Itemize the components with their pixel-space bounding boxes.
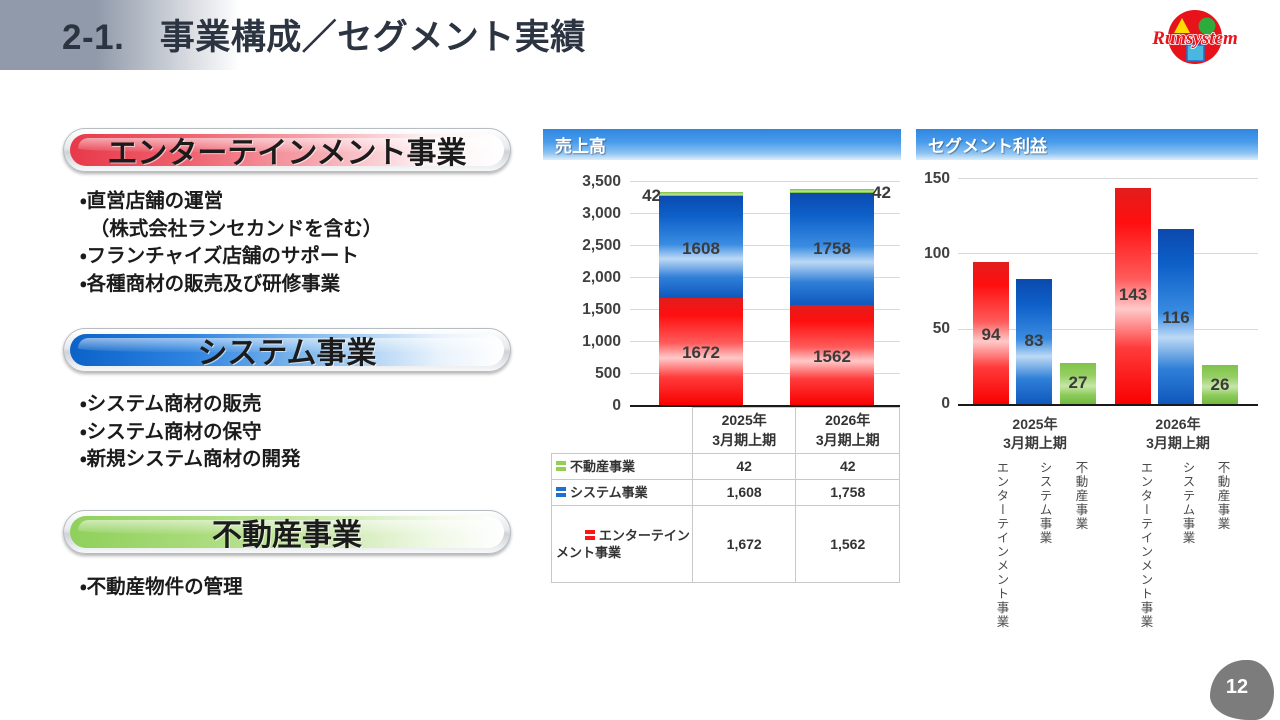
- pill-fill-realestate: 不動産事業: [70, 516, 504, 548]
- sales-ytick-2500: 2,500: [548, 237, 621, 255]
- segment-pill-realestate: 不動産事業: [63, 510, 511, 554]
- slide-root: 2-1. 事業構成／セグメント実績 Runsystem エンターテインメント事業…: [0, 0, 1280, 720]
- profit-x-axis-line: [958, 404, 1258, 406]
- pill-fill-system: システム事業: [70, 334, 504, 366]
- profit-value-system-2025: 83: [1016, 331, 1052, 351]
- sales-value-system-2025: 1608: [659, 239, 743, 259]
- profit-ytick-100: 100: [912, 245, 950, 263]
- table-col-header-2026: 2026年 3月期上期: [796, 408, 900, 454]
- profit-vlabel-realestate-2026: 不動産事業: [1216, 461, 1229, 531]
- sales-ytick-3500: 3,500: [548, 173, 621, 191]
- segment-bullets-system: ・システム商材の販売 ・システム商材の保守 ・新規システム商材の開発: [80, 391, 301, 474]
- legend-swatch-green-icon: [556, 461, 566, 472]
- sales-panel-header: 売上高: [543, 129, 901, 160]
- segment-pill-entertainment: エンターテインメント事業: [63, 128, 511, 172]
- table-row: 不動産事業 42 42: [552, 454, 900, 480]
- legend-swatch-blue-icon: [556, 487, 566, 498]
- sales-data-table: 2025年 3月期上期 2026年 3月期上期 不動産事業 42 42 システム…: [551, 407, 900, 583]
- sales-value-realestate-2026: 42: [872, 183, 906, 203]
- table-col-header-2025: 2025年 3月期上期: [692, 408, 796, 454]
- legend-swatch-red-icon: [585, 530, 595, 541]
- table-corner-cell: [552, 408, 693, 454]
- profit-panel-header: セグメント利益: [916, 129, 1258, 160]
- table-row-label-realestate: 不動産事業: [552, 454, 693, 480]
- profit-value-entertainment-2025: 94: [973, 325, 1009, 345]
- table-cell-entertainment-2025: 1,672: [692, 505, 796, 582]
- segment-pill-system: システム事業: [63, 328, 511, 372]
- profit-ytick-0: 0: [912, 395, 950, 413]
- sales-ytick-2000: 2,000: [548, 269, 621, 287]
- profit-value-entertainment-2026: 143: [1115, 285, 1151, 305]
- page-number: 12: [1210, 676, 1264, 699]
- sales-value-realestate-2025: 42: [627, 186, 661, 206]
- profit-vlabel-system-2026: システム事業: [1181, 461, 1194, 545]
- sales-value-system-2026: 1758: [790, 239, 874, 259]
- profit-value-realestate-2026: 26: [1202, 375, 1238, 395]
- profit-vlabel-entertainment-2025: エンターテインメント事業: [995, 461, 1008, 629]
- segment-pill-label: エンターテインメント事業: [107, 128, 466, 172]
- sales-panel-title: 売上高: [555, 132, 606, 157]
- profit-ytick-150: 150: [912, 170, 950, 188]
- sales-bar-realestate-2026: [790, 189, 874, 193]
- table-cell-entertainment-2026: 1,562: [796, 505, 900, 582]
- sales-ytick-500: 500: [548, 365, 621, 383]
- table-cell-system-2025: 1,608: [692, 480, 796, 506]
- table-cell-system-2026: 1,758: [796, 480, 900, 506]
- sales-ytick-1500: 1,500: [548, 301, 621, 319]
- segment-bullets-entertainment: ・直営店舗の運営 （株式会社ランセカンドを含む） ・フランチャイズ店舗のサポート…: [80, 188, 382, 299]
- table-row: システム事業 1,608 1,758: [552, 480, 900, 506]
- sales-ytick-1000: 1,000: [548, 333, 621, 351]
- segment-bullets-realestate: ・不動産物件の管理: [80, 574, 243, 602]
- profit-value-realestate-2025: 27: [1060, 373, 1096, 393]
- profit-vlabel-entertainment-2026: エンターテインメント事業: [1139, 461, 1152, 629]
- table-cell-realestate-2026: 42: [796, 454, 900, 480]
- pill-fill-entertainment: エンターテインメント事業: [70, 134, 504, 166]
- table-row-label-system: システム事業: [552, 480, 693, 506]
- table-cell-realestate-2025: 42: [692, 454, 796, 480]
- table-row-label-entertainment: エンターテイン メント事業: [552, 505, 693, 582]
- sales-value-entertainment-2026: 1562: [790, 347, 874, 367]
- logo-wordmark: Runsystem: [1151, 28, 1238, 49]
- table-row-header: 2025年 3月期上期 2026年 3月期上期: [552, 408, 900, 454]
- profit-ytick-50: 50: [912, 320, 950, 338]
- sales-value-entertainment-2025: 1672: [659, 343, 743, 363]
- page-title: 2-1. 事業構成／セグメント実績: [62, 9, 586, 60]
- table-row: エンターテイン メント事業 1,672 1,562: [552, 505, 900, 582]
- profit-vlabel-realestate-2025: 不動産事業: [1074, 461, 1087, 531]
- profit-panel-title: セグメント利益: [928, 132, 1047, 157]
- segment-pill-label: 不動産事業: [212, 510, 362, 554]
- segment-pill-label: システム事業: [197, 328, 376, 372]
- profit-xcat-2026: 2026年 3月期上期: [1113, 415, 1243, 453]
- sales-gridline: [630, 181, 900, 182]
- sales-ytick-3000: 3,000: [548, 205, 621, 223]
- profit-gridline: [958, 178, 1258, 179]
- sales-bar-realestate-2025: [659, 192, 743, 196]
- page-number-badge: 12: [1210, 660, 1274, 720]
- profit-gridline: [958, 253, 1258, 254]
- runsystem-logo: Runsystem: [1124, 8, 1266, 66]
- profit-xcat-2025: 2025年 3月期上期: [970, 415, 1100, 453]
- profit-value-system-2026: 116: [1158, 308, 1194, 328]
- profit-vlabel-system-2025: システム事業: [1038, 461, 1051, 545]
